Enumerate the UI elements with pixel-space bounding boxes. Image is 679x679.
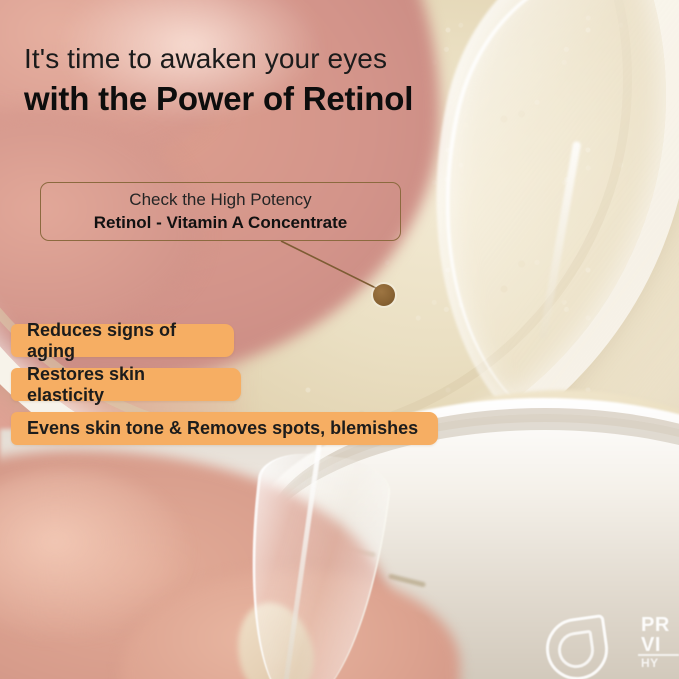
feature-pill-2: Restores skin elasticity [11,368,241,401]
potency-callout-box: Check the High Potency Retinol - Vitamin… [40,182,401,241]
callout-line-2: Retinol - Vitamin A Concentrate [94,212,347,234]
feature-pill-3: Evens skin tone & Removes spots, blemish… [11,412,438,445]
ingredient-highlight-dot [373,284,395,306]
headline-line-2: with the Power of Retinol [24,80,644,119]
feature-pill-1: Reduces signs of aging [11,324,234,357]
callout-line-1: Check the High Potency [129,189,311,210]
headline-line-1: It's time to awaken your eyes [24,42,644,76]
overlay-content: It's time to awaken your eyes with the P… [0,0,679,679]
headline-block: It's time to awaken your eyes with the P… [24,42,644,119]
retinol-promo-banner: PR VI HY It's time to awaken your eyes w… [0,0,679,679]
